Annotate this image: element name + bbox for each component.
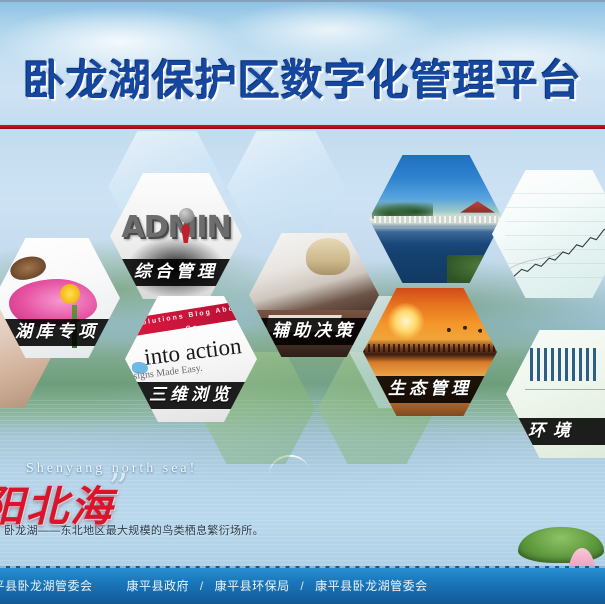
footer-owner: 康平县卧龙湖管委会 — [0, 577, 93, 594]
app-root: 卧龙湖保护区数字化管理平台 湖库专项 ADMIN 综合管理 — [0, 0, 605, 604]
window-top-edge — [0, 0, 605, 2]
report-divider — [525, 389, 605, 390]
footer-bar: 康平县卧龙湖管委会 康平县政府 / 康平县环保局 / 康平县卧龙湖管委会 — [0, 566, 605, 604]
footer-link-epb[interactable]: 康平县环保局 — [215, 579, 290, 593]
shoreline-reeds — [363, 344, 497, 352]
footer-separator: / — [200, 579, 204, 593]
flower-center — [60, 284, 80, 304]
footer-separator: / — [300, 579, 304, 593]
footer-links: 康平县政府 / 康平县环保局 / 康平县卧龙湖管委会 — [127, 577, 428, 594]
footer-content: 康平县卧龙湖管委会 康平县政府 / 康平县环保局 / 康平县卧龙湖管委会 — [0, 577, 428, 594]
bridge-railing — [374, 216, 497, 222]
admin-figure-head-icon — [179, 208, 194, 223]
page-title: 卧龙湖保护区数字化管理平台 — [0, 52, 605, 112]
tagline-quote-mark: ” — [108, 466, 128, 512]
report-bar-chart — [530, 348, 597, 381]
footer-link-government[interactable]: 康平县政府 — [127, 579, 190, 593]
person-hair — [306, 238, 350, 275]
admin-wordmark: ADMIN — [118, 211, 234, 254]
tagline-note: 卧龙湖——东北地区最大规模的鸟类栖息繁衍场所。 — [4, 522, 264, 538]
chart-trend-line — [500, 211, 605, 283]
footer-link-wolonghu-committee[interactable]: 康平县卧龙湖管委会 — [315, 579, 428, 593]
pavilion-roof — [460, 201, 495, 213]
